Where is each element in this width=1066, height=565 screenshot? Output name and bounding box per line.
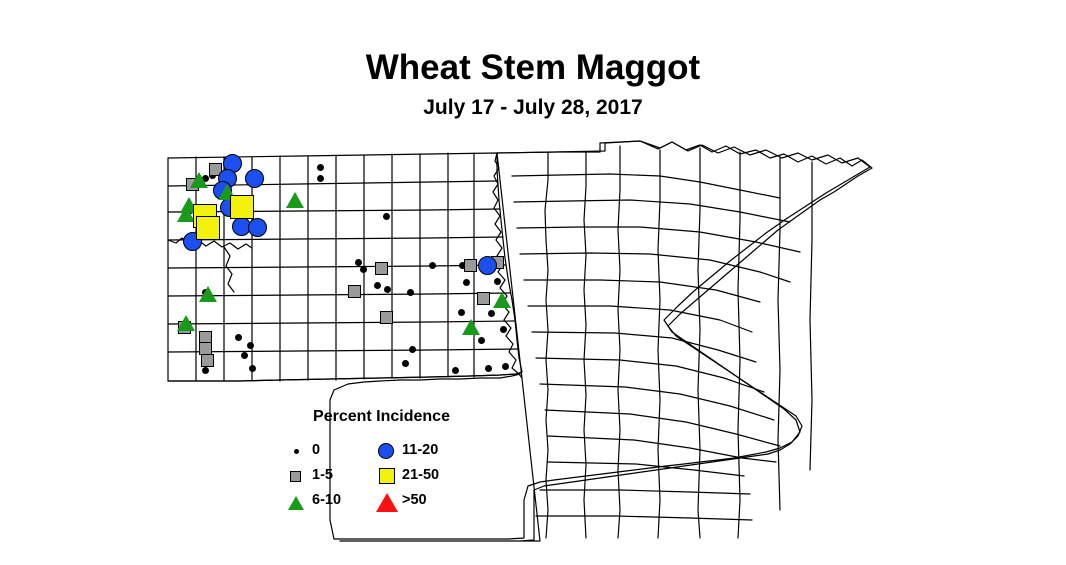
map-marker-dot[interactable] — [241, 352, 248, 359]
map-marker-gray-square[interactable] — [380, 311, 393, 324]
map-marker-dot[interactable] — [317, 175, 324, 182]
map-marker-dot[interactable] — [249, 365, 256, 372]
map-marker-dot[interactable] — [235, 334, 242, 341]
map-marker-gray-square[interactable] — [375, 262, 388, 275]
legend-title: Percent Incidence — [294, 408, 469, 426]
legend-item-label: 11-20 — [402, 442, 438, 458]
map-marker-dot[interactable] — [494, 278, 501, 285]
red-triangle-icon — [376, 493, 398, 512]
map-marker-dot[interactable] — [247, 342, 254, 349]
map-marker-dot[interactable] — [384, 286, 391, 293]
map-marker-dot[interactable] — [488, 310, 495, 317]
map-marker-dot[interactable] — [478, 337, 485, 344]
legend-symbol — [286, 465, 308, 487]
map-marker-dot[interactable] — [502, 363, 509, 370]
map-marker-gray-square[interactable] — [464, 259, 477, 272]
legend-item-label: 21-50 — [402, 467, 439, 483]
map-page: Wheat Stem Maggot July 17 - July 28, 201… — [0, 0, 1066, 565]
map-marker-dot[interactable] — [317, 164, 324, 171]
map-marker-gray-square[interactable] — [201, 354, 214, 367]
legend-symbol — [286, 490, 308, 512]
map-marker-dot[interactable] — [374, 282, 381, 289]
blue-circle-icon — [378, 443, 394, 459]
dot-icon — [294, 449, 299, 454]
map-marker-dot[interactable] — [409, 346, 416, 353]
map-marker-green-triangle[interactable] — [199, 286, 217, 302]
legend-item-label: 1-5 — [312, 467, 333, 483]
legend-item-label: >50 — [402, 492, 427, 508]
map-marker-green-triangle[interactable] — [190, 172, 208, 188]
map-marker-dot[interactable] — [458, 309, 465, 316]
map-marker-gray-square[interactable] — [477, 292, 490, 305]
map-marker-dot[interactable] — [202, 367, 209, 374]
map-canvas[interactable] — [0, 0, 1066, 565]
map-marker-dot[interactable] — [383, 213, 390, 220]
map-marker-gray-square[interactable] — [348, 285, 361, 298]
state-outline-detail — [0, 0, 1066, 565]
map-marker-green-triangle[interactable] — [286, 192, 304, 208]
map-marker-dot[interactable] — [463, 279, 470, 286]
map-marker-blue-circle[interactable] — [245, 169, 264, 188]
map-marker-dot[interactable] — [407, 289, 414, 296]
map-marker-dot[interactable] — [355, 259, 362, 266]
map-marker-dot[interactable] — [452, 367, 459, 374]
green-triangle-icon — [288, 496, 304, 510]
map-marker-dot[interactable] — [429, 262, 436, 269]
legend-symbol — [286, 440, 308, 462]
map-marker-dot[interactable] — [485, 365, 492, 372]
gray-square-icon — [290, 471, 301, 482]
map-marker-yellow-square[interactable] — [230, 195, 254, 219]
legend-item-label: 0 — [312, 442, 320, 458]
legend-item-label: 6-10 — [312, 492, 341, 508]
map-marker-yellow-square[interactable] — [196, 216, 220, 240]
map-marker-blue-circle[interactable] — [478, 256, 497, 275]
legend: Percent Incidence 01-56-1011-2021-50>50 — [276, 408, 476, 508]
map-marker-dot[interactable] — [360, 266, 367, 273]
yellow-square-icon — [379, 468, 395, 484]
map-marker-green-triangle[interactable] — [493, 292, 511, 308]
legend-symbol — [376, 490, 398, 512]
map-marker-green-triangle[interactable] — [462, 319, 480, 335]
legend-symbol — [376, 440, 398, 462]
legend-symbol — [376, 465, 398, 487]
map-marker-green-triangle[interactable] — [177, 315, 195, 331]
map-marker-dot[interactable] — [402, 360, 409, 367]
map-marker-blue-circle[interactable] — [248, 218, 267, 237]
map-marker-dot[interactable] — [500, 326, 507, 333]
